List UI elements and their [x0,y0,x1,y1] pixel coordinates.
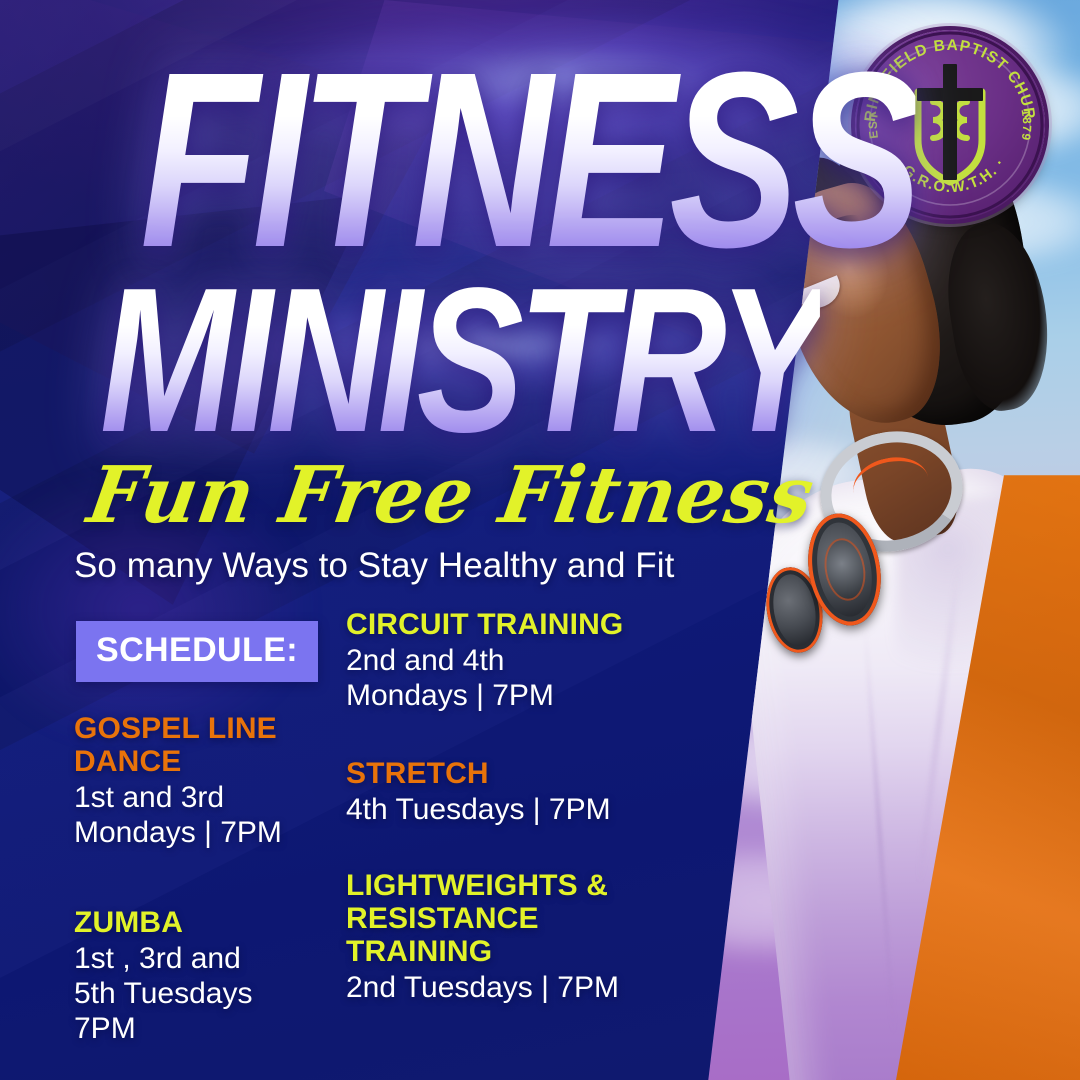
schedule-item: ZUMBA 1st , 3rd and 5th Tuesdays 7PM [74,906,346,1046]
schedule-item-title: LIGHTWEIGHTS & RESISTANCE TRAINING [346,869,676,968]
schedule-item: CIRCUIT TRAINING 2nd and 4th Mondays | 7… [346,608,676,713]
logo-year-text: 1879 [1019,108,1035,142]
headline-ministry: MINISTRY [100,272,820,449]
schedule-item: GOSPEL LINE DANCE 1st and 3rd Mondays | … [74,712,346,850]
schedule-item-detail: 2nd Tuesdays | 7PM [346,970,676,1005]
schedule-item-title: GOSPEL LINE DANCE [74,712,346,778]
fitness-ministry-flyer: SPRINGFIELD BAPTIST CHURCH · G.R.O.W.T.H… [0,0,1080,1080]
schedule-badge: SCHEDULE: [76,621,318,682]
schedule-item-detail: 1st , 3rd and 5th Tuesdays 7PM [74,941,346,1046]
svg-text:1879: 1879 [1019,108,1035,142]
script-tagline: Fun Free Fitness [82,450,820,541]
schedule-item-title: STRETCH [346,757,676,790]
headline-fitness: FITNESS [140,52,916,267]
schedule-item-detail: 1st and 3rd Mondays | 7PM [74,780,346,850]
schedule-right-column: CIRCUIT TRAINING 2nd and 4th Mondays | 7… [346,608,676,1039]
schedule-item-title: ZUMBA [74,906,346,939]
schedule-item: LIGHTWEIGHTS & RESISTANCE TRAINING 2nd T… [346,869,676,1005]
schedule-item-title: CIRCUIT TRAINING [346,608,676,641]
schedule-item: STRETCH 4th Tuesdays | 7PM [346,757,676,827]
subtitle: So many Ways to Stay Healthy and Fit [74,546,674,586]
schedule-item-detail: 4th Tuesdays | 7PM [346,792,676,827]
schedule-left-column: GOSPEL LINE DANCE 1st and 3rd Mondays | … [74,712,346,1080]
schedule-item-detail: 2nd and 4th Mondays | 7PM [346,643,676,713]
